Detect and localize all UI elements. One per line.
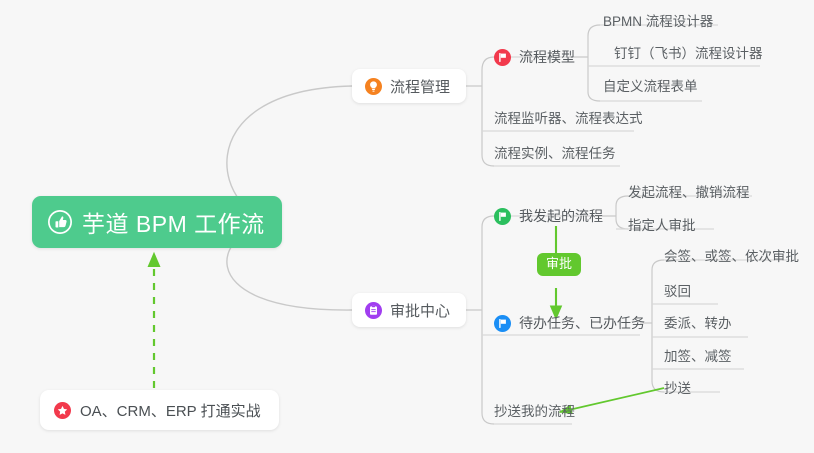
lightbulb-icon: [365, 78, 382, 95]
leaf-start-cancel-process[interactable]: 发起流程、撤销流程: [628, 181, 750, 205]
mindmap-canvas: 芋道 BPM 工作流 流程管理 流程模型 BPMN 流程设计器 钉钉（飞书）流程…: [0, 0, 814, 453]
node-label: 我发起的流程: [519, 206, 603, 226]
leaf-cc[interactable]: 抄送: [664, 377, 691, 401]
leaf-dingtalk-feishu-designer[interactable]: 钉钉（飞书）流程设计器: [614, 42, 763, 66]
node-label: 待办任务、已办任务: [519, 313, 645, 333]
flag-icon: [494, 208, 511, 225]
root-label: 芋道 BPM 工作流: [82, 205, 265, 239]
star-icon: [54, 402, 71, 419]
leaf-bpmn-designer[interactable]: BPMN 流程设计器: [603, 10, 713, 34]
clipboard-icon: [365, 302, 382, 319]
thumbs-up-icon: [47, 209, 73, 235]
branch-node-approval-center[interactable]: 审批中心: [352, 293, 466, 327]
approval-flow-badge: 审批: [537, 253, 581, 276]
branch-label: 流程管理: [390, 76, 450, 97]
leaf-delegate-transfer[interactable]: 委派、转办: [664, 312, 732, 336]
branch-label: 审批中心: [390, 300, 450, 321]
flag-icon: [494, 315, 511, 332]
node-my-initiated-processes[interactable]: 我发起的流程: [494, 203, 603, 229]
branch-node-process-management[interactable]: 流程管理: [352, 69, 466, 103]
leaf-add-remove-sign[interactable]: 加签、减签: [664, 345, 732, 369]
leaf-custom-process-form[interactable]: 自定义流程表单: [603, 75, 698, 99]
bottom-node-label: OA、CRM、ERP 打通实战: [80, 400, 261, 421]
node-todo-done-tasks[interactable]: 待办任务、已办任务: [494, 310, 645, 336]
root-node[interactable]: 芋道 BPM 工作流: [32, 196, 282, 248]
node-process-model[interactable]: 流程模型: [494, 44, 575, 70]
leaf-reject[interactable]: 驳回: [664, 280, 691, 304]
node-label: 流程模型: [519, 47, 575, 67]
leaf-countersign-orsign-sequential[interactable]: 会签、或签、依次审批: [664, 245, 799, 269]
leaf-assigned-approver[interactable]: 指定人审批: [628, 214, 696, 238]
leaf-process-instance-task[interactable]: 流程实例、流程任务: [494, 142, 616, 166]
leaf-cc-to-me-processes[interactable]: 抄送我的流程: [494, 400, 575, 424]
bottom-node-integration-practice[interactable]: OA、CRM、ERP 打通实战: [40, 390, 279, 430]
flag-icon: [494, 49, 511, 66]
leaf-process-listener-expression[interactable]: 流程监听器、流程表达式: [494, 107, 643, 131]
